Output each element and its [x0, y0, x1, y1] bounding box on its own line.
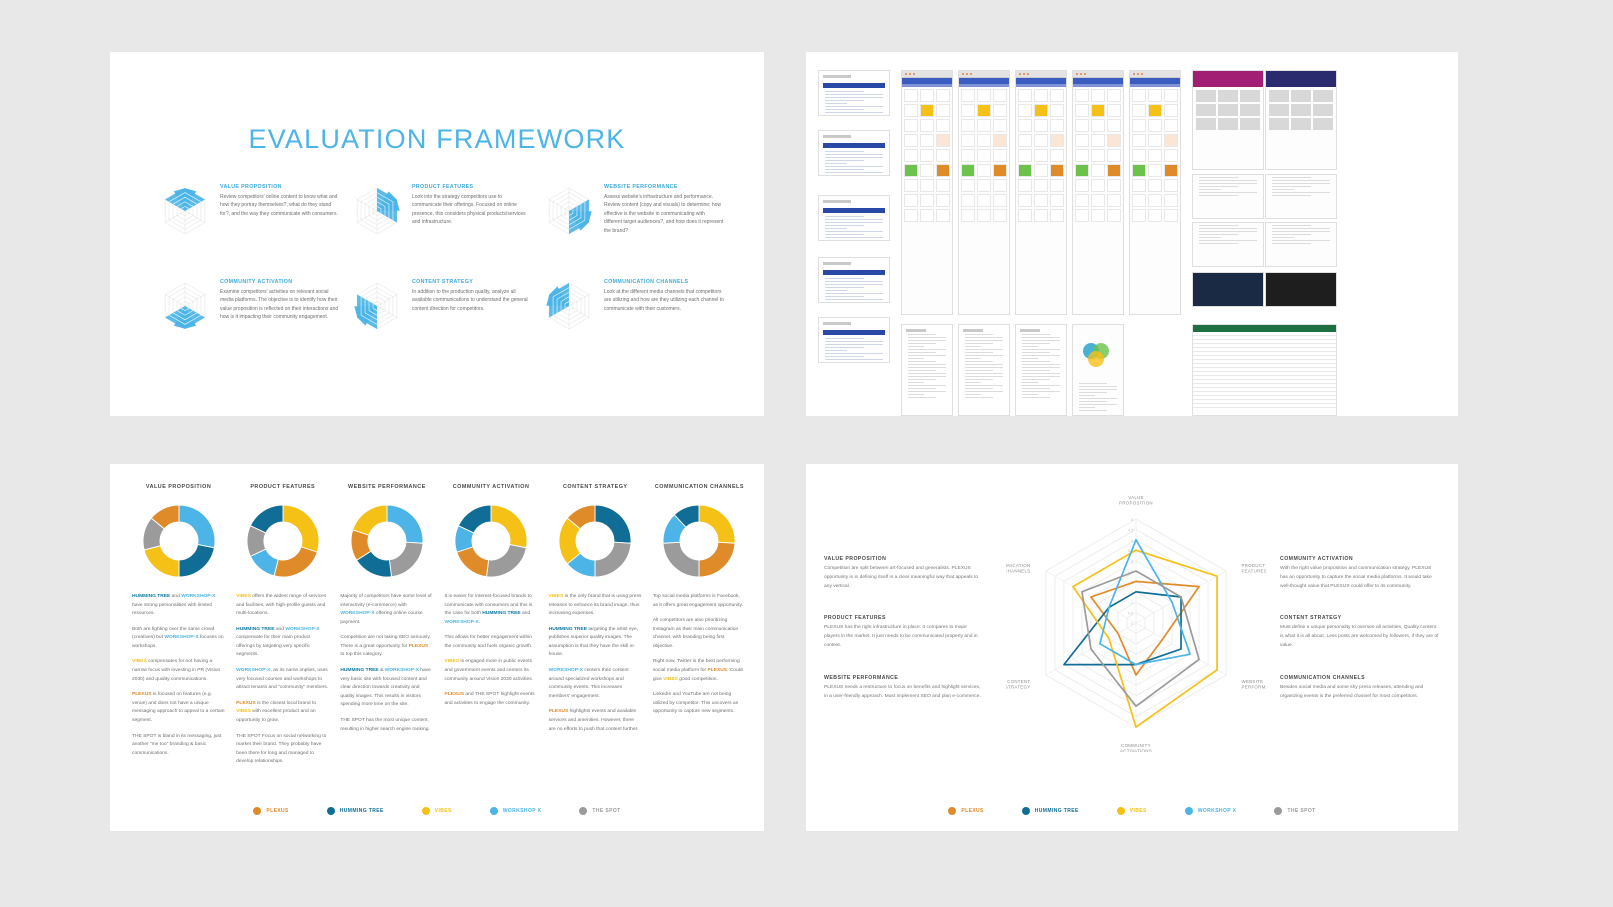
thumbnail-line — [965, 373, 1003, 374]
brand-mention-plexus: PLEXUS — [707, 668, 727, 673]
site-card — [1132, 194, 1146, 207]
thumbnail-titlebar — [823, 208, 885, 213]
legend-label: VIBES — [1130, 808, 1147, 814]
framework-cell-content-strategy[interactable]: CONTENT STRATEGYIn addition to the produ… — [350, 277, 532, 372]
site-row — [961, 104, 1007, 117]
site-row — [1018, 179, 1064, 192]
venn-diagram — [1079, 339, 1117, 369]
thumbnail-dark-2[interactable] — [1265, 272, 1337, 307]
thumbnail-hero-2[interactable] — [1265, 70, 1337, 170]
thumbnail-line — [825, 109, 864, 110]
site-card — [1107, 179, 1121, 192]
thumbnail-line — [908, 370, 936, 371]
site-card — [904, 134, 918, 147]
legend-item[interactable]: WORKSHOP X — [490, 807, 542, 815]
brand-mention-vibes: VIBES — [132, 659, 147, 664]
donut-notes: Majority of competitors have some level … — [340, 593, 433, 741]
legend-item[interactable]: THE SPOT — [1274, 807, 1315, 815]
site-body — [902, 87, 952, 226]
slide-evaluation-framework: EVALUATION FRAMEWORK VALUE PROPOSITIONRe… — [110, 52, 764, 416]
thumbnail-line — [825, 296, 864, 297]
site-row — [1075, 149, 1121, 162]
site-row — [1132, 119, 1178, 132]
gallery-image — [1218, 118, 1238, 130]
donut-chart — [245, 503, 321, 579]
site-card — [1107, 119, 1121, 132]
framework-cell-body: Look into the strategy competitors use t… — [412, 193, 532, 227]
site-card — [1091, 119, 1105, 132]
site-row — [1132, 164, 1178, 177]
thumbnail-line — [1079, 407, 1095, 408]
browser-chrome — [959, 71, 1009, 78]
thumbnail-doc-5[interactable] — [818, 317, 890, 363]
thumbnail-webpage-3[interactable] — [1015, 70, 1067, 315]
thumbnail-titlebar — [823, 270, 885, 275]
site-card — [1164, 89, 1178, 102]
site-card — [904, 89, 918, 102]
thumbnail-doc-2[interactable] — [818, 130, 890, 176]
thumbnail-line — [965, 343, 993, 344]
thumbnail-report-3[interactable] — [1015, 324, 1067, 416]
framework-cell-community-activation[interactable]: COMMUNITY ACTIVATIONExamine competitors'… — [158, 277, 340, 372]
brand-mention-vibes: VIBES — [444, 659, 459, 664]
site-card — [1034, 134, 1048, 147]
donut-note: WORKSHOP-X, as its name implies, uses ve… — [236, 667, 329, 693]
site-card — [1107, 104, 1121, 117]
svg-text:4: 4 — [1131, 539, 1133, 543]
gallery-image — [1240, 118, 1260, 130]
site-card — [977, 104, 991, 117]
site-card — [1148, 194, 1162, 207]
browser-dot — [1023, 73, 1025, 75]
site-card — [1018, 164, 1032, 177]
svg-text:WEBSITEPERFORMANCE: WEBSITEPERFORMANCE — [1242, 679, 1266, 689]
thumbnail-line — [965, 382, 981, 383]
thumbnail-subbar — [823, 322, 851, 325]
site-card — [1018, 179, 1032, 192]
donut-note: HUMMING TREE targeting the artist eye, p… — [549, 626, 642, 660]
svg-text:4.5: 4.5 — [1128, 528, 1133, 532]
site-card — [1050, 194, 1064, 207]
thumbnail-line — [1022, 358, 1038, 359]
site-card — [1148, 134, 1162, 147]
thumbnail-line — [1199, 240, 1257, 241]
thumbnail-line — [1272, 195, 1311, 196]
donut-chart — [453, 503, 529, 579]
legend-label: VIBES — [435, 808, 452, 814]
legend-color-dot — [1274, 807, 1282, 815]
framework-cell-product-features[interactable]: PRODUCT FEATURESLook into the strategy c… — [350, 182, 532, 277]
mini-radar-icon — [350, 279, 404, 333]
site-card — [1164, 164, 1178, 177]
site-card — [1075, 134, 1089, 147]
report-titlebar — [1020, 329, 1040, 332]
thumbnail-titlebar — [823, 330, 885, 335]
site-card — [936, 149, 950, 162]
site-row — [1132, 104, 1178, 117]
thumbnail-line — [908, 364, 946, 365]
thumbnail-line — [1272, 186, 1311, 187]
site-card — [977, 149, 991, 162]
site-card — [1050, 209, 1064, 222]
thumbnail-doc-1[interactable] — [818, 70, 890, 116]
thumbnail-line — [965, 334, 993, 335]
site-row — [1018, 119, 1064, 132]
donut-notes: It is easier for interest-focused brands… — [444, 593, 537, 715]
thumbnail-line — [1022, 385, 1060, 386]
thumbnail-grid — [806, 52, 1458, 416]
framework-cell-value-proposition[interactable]: VALUE PROPOSITIONReview competitors' onl… — [158, 182, 340, 277]
site-card — [1132, 104, 1146, 117]
site-card — [961, 164, 975, 177]
legend-item[interactable]: THE SPOT — [579, 807, 620, 815]
radar-note-block: WEBSITE PERFORMANCEPLEXUS needs a restru… — [824, 675, 984, 702]
site-card — [961, 209, 975, 222]
hero-banner — [1193, 71, 1263, 87]
donut-note: VIBES compensates for not having a narro… — [132, 658, 225, 684]
thumbnail-line — [825, 106, 883, 107]
mini-radar-icon — [158, 279, 212, 333]
donut-column: COMMUNITY ACTIVATIONIt is easier for int… — [444, 484, 537, 774]
site-card — [936, 209, 950, 222]
brand-mention-humming: HUMMING TREE — [482, 611, 520, 616]
site-card — [1148, 89, 1162, 102]
gallery-image — [1196, 118, 1216, 130]
site-card — [1148, 119, 1162, 132]
site-row — [1018, 89, 1064, 102]
thumbnail-line — [965, 346, 981, 347]
thumbnail-line — [908, 379, 936, 380]
gallery-image — [1291, 118, 1311, 130]
thumbnail-line — [1022, 376, 1060, 377]
thumbnail-line — [1022, 382, 1038, 383]
thumbnail-line — [825, 103, 847, 104]
thumbnail-line — [965, 394, 981, 395]
legend-color-dot — [490, 807, 498, 815]
site-card — [1075, 194, 1089, 207]
thumbnail-dark-1[interactable] — [1192, 272, 1264, 307]
site-card — [1107, 209, 1121, 222]
thumbnail-doc-3[interactable] — [818, 195, 890, 241]
brand-mention-plexus: PLEXUS — [236, 701, 256, 706]
legend-color-dot — [253, 807, 261, 815]
legend-item[interactable]: HUMMING TREE — [1022, 807, 1079, 815]
brand-mention-plexus: PLEXUS — [549, 709, 569, 714]
site-card — [1075, 149, 1089, 162]
thumbnail-line — [825, 278, 864, 279]
donut-note: PLEXUS is focused on features (e.g. venu… — [132, 691, 225, 725]
framework-cell-heading: COMMUNITY ACTIVATION — [220, 279, 340, 285]
site-card — [1164, 134, 1178, 147]
legend-label: THE SPOT — [1287, 808, 1315, 814]
thumbnail-line — [908, 388, 936, 389]
site-card — [993, 89, 1007, 102]
thumbnail-line — [1022, 397, 1050, 398]
brand-mention-plexus: PLEXUS — [444, 692, 464, 697]
browser-dot — [1027, 73, 1029, 75]
site-row — [1018, 104, 1064, 117]
thumbnail-line — [965, 340, 1003, 341]
radar-note-heading: PRODUCT FEATURES — [824, 615, 984, 621]
report-titlebar — [906, 329, 926, 332]
brand-mention-humming: HUMMING TREE — [236, 627, 274, 632]
legend-item[interactable]: PLEXUS — [253, 807, 288, 815]
thumbnail-line — [1022, 352, 1050, 353]
browser-dot — [1019, 73, 1021, 75]
donut-title: WEBSITE PERFORMANCE — [348, 484, 426, 491]
svg-text:COMMUNICATIONCHANNELS: COMMUNICATIONCHANNELS — [1006, 563, 1030, 573]
thumbnail-hero-1[interactable] — [1192, 70, 1264, 170]
framework-cell-text: PRODUCT FEATURESLook into the strategy c… — [412, 182, 532, 277]
site-row — [961, 164, 1007, 177]
site-card — [904, 119, 918, 132]
donut-note: THE SPOT Focus on social networking to m… — [236, 733, 329, 767]
brand-mention-vibes: VIBES — [236, 709, 251, 714]
gallery-image — [1196, 90, 1216, 102]
site-row — [904, 134, 950, 147]
thumbnail-sub-2[interactable] — [1265, 174, 1337, 219]
thumbnail-spreadsheet[interactable] — [1192, 324, 1337, 416]
browser-chrome — [1073, 71, 1123, 78]
thumbnail-line — [825, 163, 847, 164]
site-card — [904, 194, 918, 207]
site-card — [1107, 89, 1121, 102]
site-card — [1050, 104, 1064, 117]
donut-note: PLEXUS highlights events and available s… — [549, 708, 642, 734]
site-row — [961, 194, 1007, 207]
thumbnail-line — [825, 293, 883, 294]
thumbnail-line — [965, 358, 981, 359]
thumbnail-webpage-5[interactable] — [1129, 70, 1181, 315]
radar-note-heading: COMMUNITY ACTIVATION — [1280, 556, 1440, 562]
site-card — [936, 89, 950, 102]
legend-brands-radar: PLEXUSHUMMING TREEVIBESWORKSHOP XTHE SPO… — [806, 807, 1458, 815]
mini-radar-icon — [158, 184, 212, 238]
browser-chrome — [1016, 71, 1066, 78]
donut-note: Both are fighting over the same crowd (c… — [132, 626, 225, 652]
legend-label: PLEXUS — [266, 808, 288, 814]
thumbnail-line — [825, 175, 847, 176]
site-card — [1148, 104, 1162, 117]
thumbnail-line — [1079, 401, 1107, 402]
thumbnail-line — [965, 379, 993, 380]
thumbnail-doc-4[interactable] — [818, 257, 890, 303]
site-card — [1034, 104, 1048, 117]
site-row — [1075, 194, 1121, 207]
thumbnail-line — [1199, 243, 1238, 244]
thumbnail-line — [825, 94, 883, 95]
thumbnail-webpage-4[interactable] — [1072, 70, 1124, 315]
site-row — [904, 149, 950, 162]
site-card — [1148, 179, 1162, 192]
gallery-image — [1269, 90, 1289, 102]
site-card — [1018, 149, 1032, 162]
legend-item[interactable]: VIBES — [422, 807, 452, 815]
thumbnail-line — [1199, 192, 1257, 193]
legend-color-dot — [948, 807, 956, 815]
framework-cell-body: In addition to the production quality, a… — [412, 288, 532, 314]
site-card — [904, 179, 918, 192]
venn-circle — [1088, 351, 1104, 367]
legend-item[interactable]: WORKSHOP X — [1185, 807, 1237, 815]
site-row — [961, 149, 1007, 162]
site-row — [904, 209, 950, 222]
thumbnail-report-2[interactable] — [958, 324, 1010, 416]
thumbnail-subbar — [823, 75, 851, 78]
svg-text:1: 1 — [1131, 601, 1133, 605]
legend-brands-donuts: PLEXUSHUMMING TREEVIBESWORKSHOP XTHE SPO… — [110, 807, 764, 815]
donut-note: Competition are not taking SEO seriously… — [340, 634, 433, 660]
framework-cell-heading: VALUE PROPOSITION — [220, 184, 340, 190]
site-card — [920, 194, 934, 207]
site-row — [1018, 164, 1064, 177]
legend-color-dot — [1117, 807, 1125, 815]
thumbnail-line — [908, 334, 936, 335]
framework-cell-heading: CONTENT STRATEGY — [412, 279, 532, 285]
donut-title: VALUE PROPOSITION — [146, 484, 211, 491]
site-card — [1107, 149, 1121, 162]
thumbnail-line — [1022, 370, 1050, 371]
thumbnail-line — [965, 385, 1003, 386]
site-card — [1050, 164, 1064, 177]
site-card — [977, 134, 991, 147]
thumbnail-line — [908, 346, 924, 347]
donut-note: VIBES is the only brand that is using pr… — [549, 593, 642, 619]
site-card — [920, 104, 934, 117]
site-card — [904, 209, 918, 222]
site-card — [993, 209, 1007, 222]
legend-label: WORKSHOP X — [503, 808, 542, 814]
thumbnail-line — [1022, 361, 1050, 362]
thumbnail-line — [1079, 386, 1117, 387]
gallery-image — [1240, 104, 1260, 116]
radar-notes-right: COMMUNITY ACTIVATIONWith the right value… — [1280, 556, 1440, 726]
thumbnail-line — [1272, 180, 1330, 181]
svg-text:PRODUCTFEATURES: PRODUCTFEATURES — [1242, 563, 1266, 573]
thumbnail-report-1[interactable] — [901, 324, 953, 416]
thumbnail-line — [908, 349, 946, 350]
framework-cell-heading: WEBSITE PERFORMANCE — [604, 184, 724, 190]
browser-dot — [909, 73, 911, 75]
site-card — [961, 134, 975, 147]
browser-dot — [966, 73, 968, 75]
site-card — [1050, 89, 1064, 102]
framework-cell-body: Review competitors' online content to kn… — [220, 193, 340, 219]
legend-item[interactable]: VIBES — [1117, 807, 1147, 815]
thumbnail-line — [1022, 346, 1038, 347]
thumbnail-sub-4[interactable] — [1265, 222, 1337, 267]
thumbnail-line — [825, 353, 883, 354]
brand-mention-humming: HUMMING TREE — [549, 627, 587, 632]
site-body — [1016, 87, 1066, 226]
browser-dot — [905, 73, 907, 75]
framework-cell-website-performance[interactable]: WEBSITE PERFORMANCEAssess website's infr… — [542, 182, 724, 277]
site-card — [1034, 119, 1048, 132]
thumbnail-line — [1272, 237, 1294, 238]
site-card — [1148, 149, 1162, 162]
framework-cell-communication-channels[interactable]: COMMUNICATION CHANNELSLook at the differ… — [542, 277, 724, 372]
site-row — [1132, 149, 1178, 162]
site-card — [1034, 194, 1048, 207]
thumbnail-line — [825, 97, 883, 98]
site-row — [961, 179, 1007, 192]
legend-item[interactable]: PLEXUS — [948, 807, 983, 815]
site-card — [993, 134, 1007, 147]
donut-note: PLEXUS and THE SPOT highlight events and… — [444, 691, 537, 708]
slide-radar-summary: VALUE PROPOSITIONCompetition are split b… — [806, 464, 1458, 831]
thumbnail-line — [825, 225, 864, 226]
site-card — [920, 149, 934, 162]
thumbnail-webpage-2[interactable] — [958, 70, 1010, 315]
thumbnail-line — [1272, 192, 1330, 193]
donut-note: Majority of competitors have some level … — [340, 593, 433, 627]
framework-cell-body: Assess website's infrastructure and perf… — [604, 193, 724, 236]
site-card — [961, 179, 975, 192]
svg-text:CONTENTSTRATEGY: CONTENTSTRATEGY — [1006, 679, 1030, 689]
site-card — [961, 104, 975, 117]
gallery-image — [1218, 90, 1238, 102]
brand-mention-vibes: VIBES — [549, 594, 564, 599]
site-card — [904, 149, 918, 162]
thumbnail-line — [1022, 391, 1060, 392]
site-card — [920, 134, 934, 147]
thumbnail-venn[interactable] — [1072, 324, 1124, 416]
thumbnail-sub-3[interactable] — [1192, 222, 1264, 267]
thumbnail-line — [825, 169, 864, 170]
brand-mention-workshop: WORKSHOP-X — [164, 635, 198, 640]
thumbnail-subbar — [823, 200, 851, 203]
thumbnail-webpage-1[interactable] — [901, 70, 953, 315]
radar-note-body: Besides social media and some shy press … — [1280, 684, 1440, 702]
gallery-image — [1240, 90, 1260, 102]
thumbnail-line — [965, 388, 993, 389]
donut-column: COMMUNICATION CHANNELSTop social media p… — [653, 484, 746, 774]
site-card — [1075, 164, 1089, 177]
thumbnail-line — [825, 347, 864, 348]
site-card — [1132, 89, 1146, 102]
site-card — [936, 164, 950, 177]
thumbnail-line — [1199, 180, 1257, 181]
thumbnail-line — [1272, 189, 1294, 190]
site-card — [993, 104, 1007, 117]
site-card — [1091, 164, 1105, 177]
gallery-image — [1313, 90, 1333, 102]
thumbnail-line — [1022, 340, 1060, 341]
site-card — [961, 149, 975, 162]
donut-note: HUMMING TREE and WORKSHOP-X have strong … — [132, 593, 225, 619]
thumbnail-line — [908, 394, 924, 395]
site-card — [1034, 164, 1048, 177]
report-titlebar — [963, 329, 983, 332]
thumbnail-line — [1199, 231, 1257, 232]
donut-column: PRODUCT FEATURESVIBES offers the widest … — [236, 484, 329, 774]
site-body — [1130, 87, 1180, 226]
site-card — [1091, 104, 1105, 117]
thumbnail-sub-1[interactable] — [1192, 174, 1264, 219]
donut-note: THE SPOT is bland in its messaging, just… — [132, 733, 225, 759]
thumbnail-line — [965, 367, 1003, 368]
site-card — [1075, 209, 1089, 222]
site-card — [1132, 179, 1146, 192]
site-card — [904, 104, 918, 117]
legend-item[interactable]: HUMMING TREE — [327, 807, 384, 815]
thumbnail-line — [1022, 388, 1050, 389]
legend-color-dot — [422, 807, 430, 815]
site-card — [961, 194, 975, 207]
thumbnail-line — [825, 356, 864, 357]
framework-cell-text: COMMUNITY ACTIVATIONExamine competitors'… — [220, 277, 340, 372]
site-card — [1132, 149, 1146, 162]
